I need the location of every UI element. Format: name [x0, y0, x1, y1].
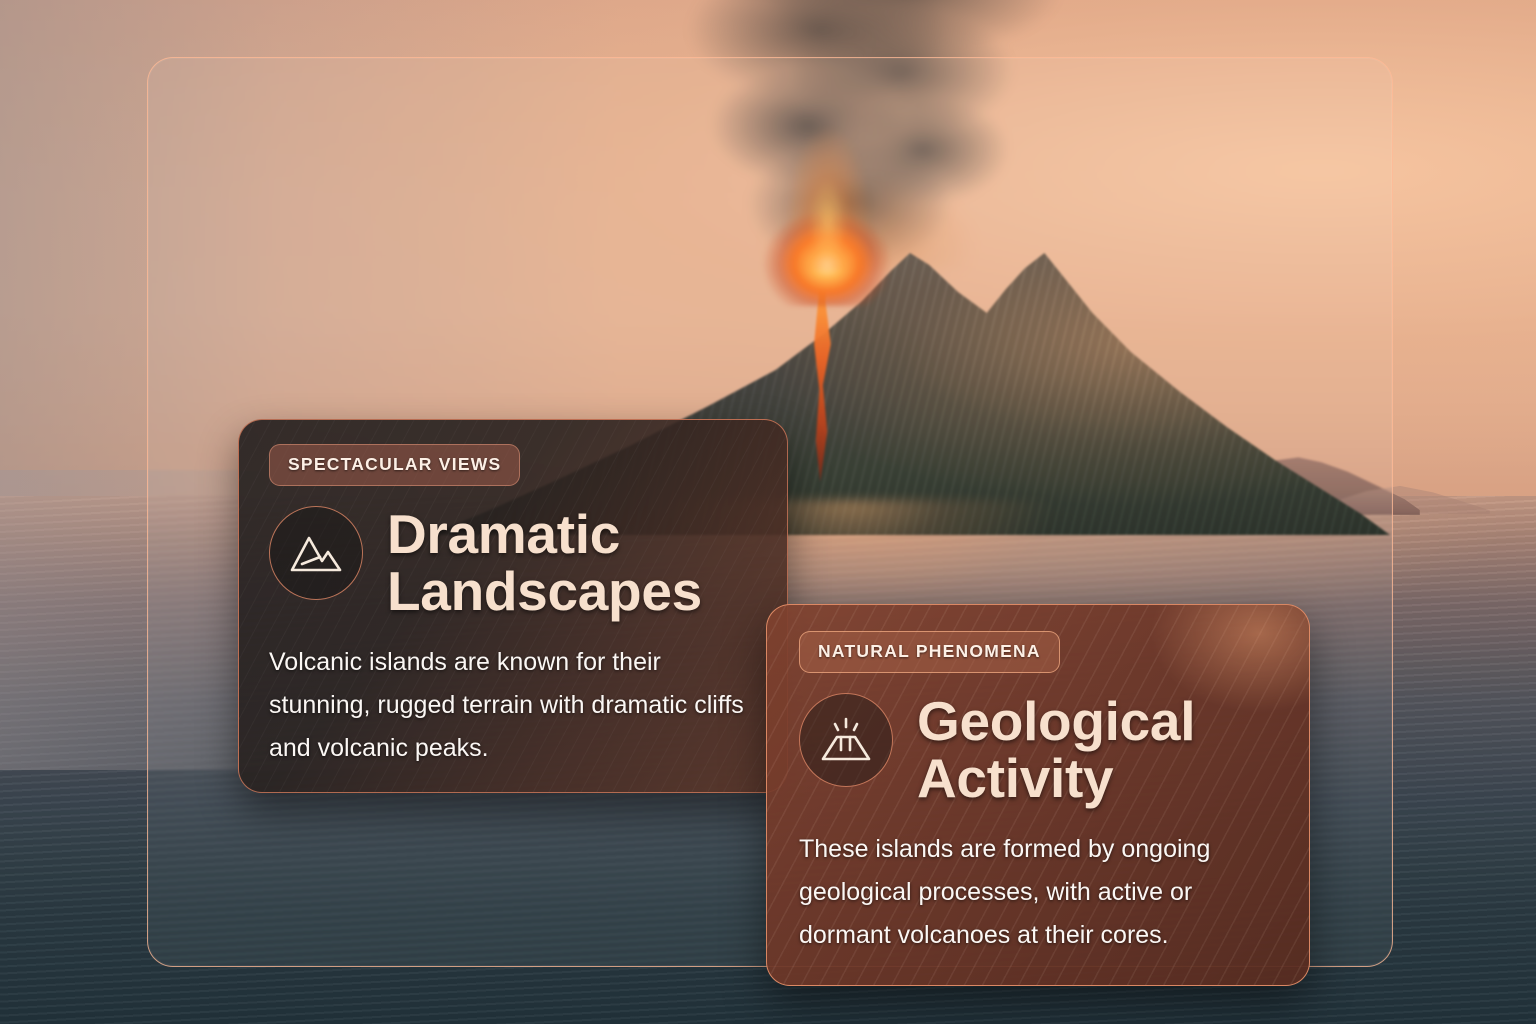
mountain-icon: [269, 506, 363, 600]
screenshot-root: SPECTACULAR VIEWS Dramatic Landscapes Vo…: [0, 0, 1536, 1024]
card-body-text: Volcanic islands are known for their stu…: [269, 641, 759, 770]
card-dramatic-landscapes[interactable]: SPECTACULAR VIEWS Dramatic Landscapes Vo…: [238, 419, 788, 793]
card-geological-activity[interactable]: NATURAL PHENOMENA Geological Activity Th: [766, 604, 1310, 986]
volcano-icon: [799, 693, 893, 787]
status-badge-spectacular-views: SPECTACULAR VIEWS: [269, 444, 520, 486]
card-heading-row: Dramatic Landscapes: [269, 506, 759, 619]
status-badge-natural-phenomena: NATURAL PHENOMENA: [799, 631, 1060, 673]
card-title: Dramatic Landscapes: [387, 506, 759, 619]
card-body-text: These islands are formed by ongoing geol…: [799, 828, 1281, 957]
card-title: Geological Activity: [917, 693, 1281, 806]
card-heading-row: Geological Activity: [799, 693, 1281, 806]
